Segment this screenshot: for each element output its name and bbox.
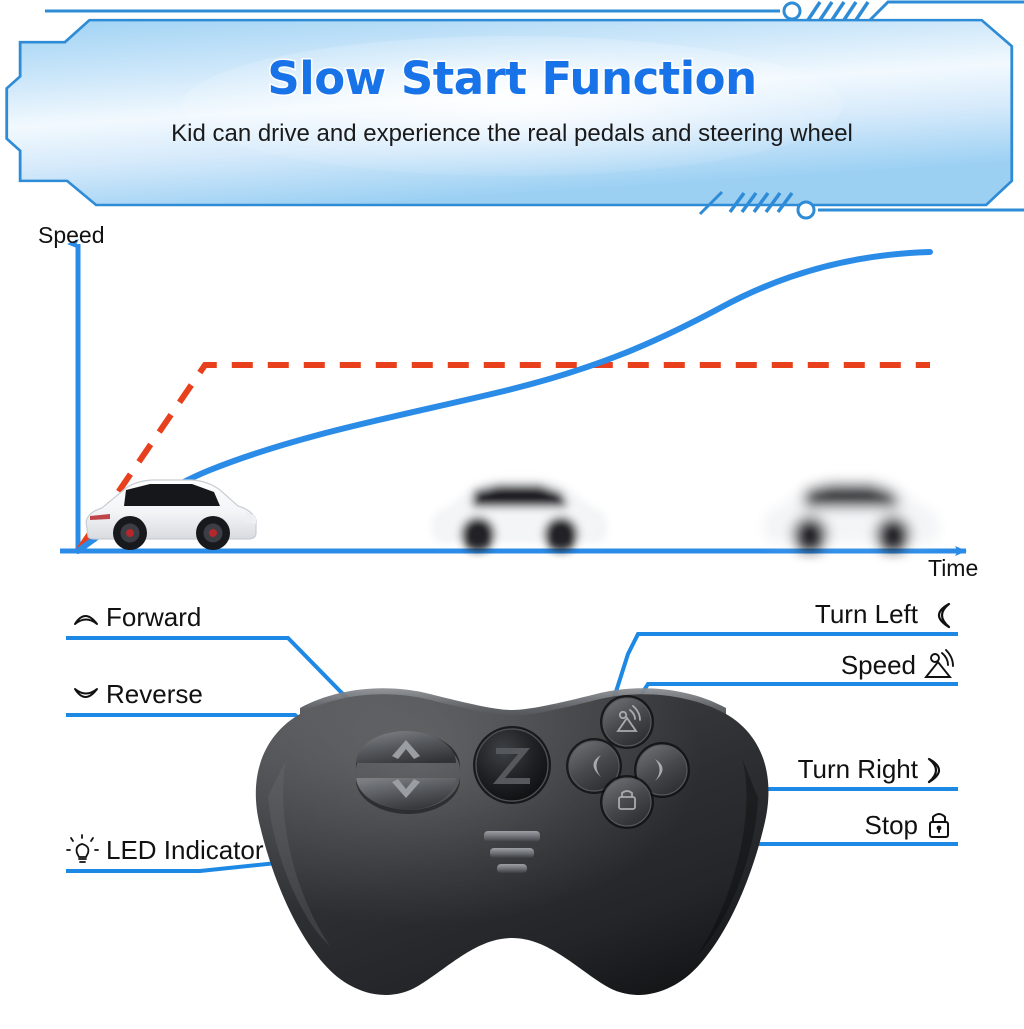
padlock-icon xyxy=(924,809,954,841)
speed-button[interactable] xyxy=(600,695,654,749)
stripe-group-top xyxy=(808,2,868,20)
callout-turn-left-label: Turn Left xyxy=(815,599,918,630)
home-button[interactable] xyxy=(473,726,551,804)
circuit-node-icon xyxy=(784,3,800,19)
callout-turn-left: Turn Left xyxy=(815,599,954,630)
chevron-right-icon xyxy=(924,755,954,785)
callout-forward-label: Forward xyxy=(106,602,201,633)
car-moving-fast xyxy=(766,481,936,551)
callout-led-indicator: LED Indicator xyxy=(66,834,264,866)
circuit-node-icon xyxy=(798,202,814,218)
callout-stop-label: Stop xyxy=(865,810,919,841)
chart-graphic xyxy=(0,220,1024,595)
page-title: Slow Start Function xyxy=(0,52,1024,105)
callout-turn-right: Turn Right xyxy=(798,754,954,785)
lightbulb-icon xyxy=(66,834,100,866)
chevron-up-icon xyxy=(72,606,100,630)
header-banner-graphic xyxy=(0,0,1024,222)
speed-vs-time-chart: Speed Time xyxy=(0,220,1024,595)
callout-reverse-label: Reverse xyxy=(106,679,203,710)
y-axis-label: Speed xyxy=(38,222,105,249)
x-axis-label: Time xyxy=(928,555,978,582)
car-moving-mid xyxy=(434,481,604,551)
infographic-page: Slow Start Function Kid can drive and ex… xyxy=(0,0,1024,1024)
callout-led-label: LED Indicator xyxy=(106,835,264,866)
callout-speed: Speed xyxy=(841,649,954,681)
page-subtitle: Kid can drive and experience the real pe… xyxy=(0,120,1024,148)
chevron-left-icon xyxy=(924,600,954,630)
controller-diagram: Forward Reverse xyxy=(0,590,1024,1024)
stop-button[interactable] xyxy=(600,775,654,829)
chevron-down-icon xyxy=(72,683,100,707)
callout-forward: Forward xyxy=(72,602,201,633)
callout-reverse: Reverse xyxy=(72,679,203,710)
signal-speed-icon xyxy=(922,649,954,681)
callout-turn-right-label: Turn Right xyxy=(798,754,918,785)
callout-speed-label: Speed xyxy=(841,650,916,681)
car-stationary xyxy=(86,480,256,550)
callout-stop: Stop xyxy=(865,809,955,841)
header-banner: Slow Start Function Kid can drive and ex… xyxy=(0,0,1024,222)
